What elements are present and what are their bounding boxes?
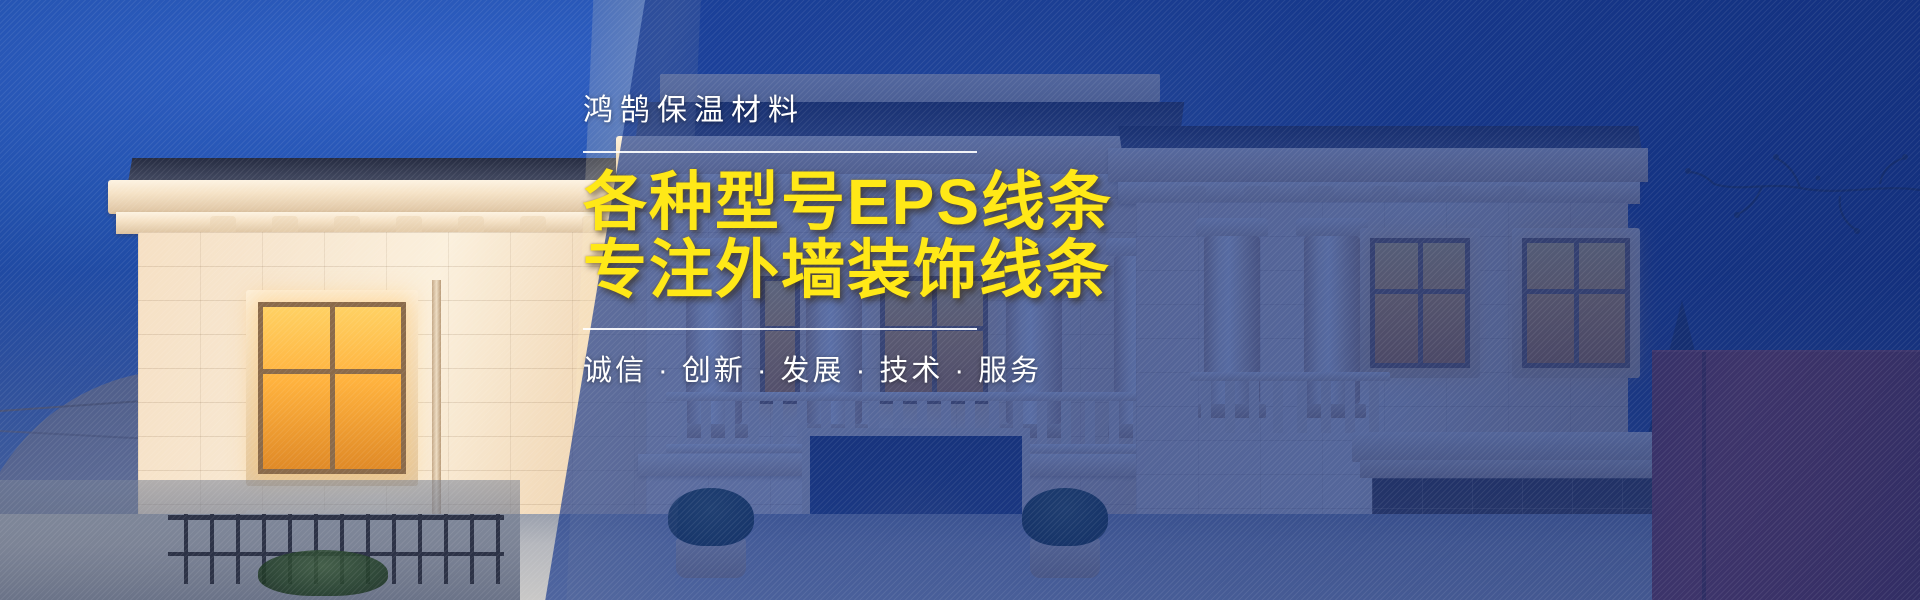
headline-line-1: 各种型号EPS线条 xyxy=(583,166,1113,238)
shrub xyxy=(258,550,388,596)
headline: 各种型号EPS线条 专注外墙装饰线条 xyxy=(583,168,1363,305)
hero-banner: 鸿鹄保温材料 各种型号EPS线条 专注外墙装饰线条 诚信 · 创新 · 发展 ·… xyxy=(0,0,1920,600)
divider-bottom xyxy=(583,328,977,330)
lit-window xyxy=(258,302,406,474)
tagline: 诚信 · 创新 · 发展 · 技术 · 服务 xyxy=(583,347,1363,389)
headline-line-2: 专注外墙装饰线条 xyxy=(583,236,1363,304)
brand-name: 鸿鹄保温材料 xyxy=(583,96,1363,126)
banner-copy: 鸿鹄保温材料 各种型号EPS线条 专注外墙装饰线条 诚信 · 创新 · 发展 ·… xyxy=(583,96,1363,389)
divider-top xyxy=(583,151,977,153)
